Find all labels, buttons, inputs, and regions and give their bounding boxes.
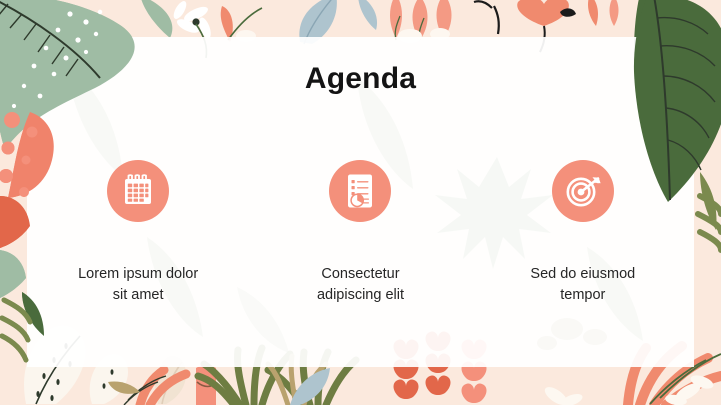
target-icon: [565, 174, 601, 208]
calendar-icon-circle[interactable]: [107, 160, 169, 222]
checklist-document-icon-circle[interactable]: [329, 160, 391, 222]
agenda-item-2-label: Consectetur adipiscing elit: [317, 264, 404, 306]
slide: Agenda: [0, 0, 721, 405]
checklist-document-icon: [344, 173, 376, 209]
agenda-columns: Lorem ipsum dolor sit amet: [27, 160, 694, 310]
agenda-item-2[interactable]: Consectetur adipiscing elit: [260, 160, 460, 306]
agenda-item-3[interactable]: Sed do eiusmod tempor: [483, 160, 683, 306]
target-icon-circle[interactable]: [552, 160, 614, 222]
agenda-item-1[interactable]: Lorem ipsum dolor sit amet: [38, 160, 238, 306]
agenda-item-3-label: Sed do eiusmod tempor: [530, 264, 635, 306]
page-title: Agenda: [0, 62, 721, 96]
calendar-icon: [121, 174, 155, 208]
agenda-item-1-label: Lorem ipsum dolor sit amet: [78, 264, 198, 306]
